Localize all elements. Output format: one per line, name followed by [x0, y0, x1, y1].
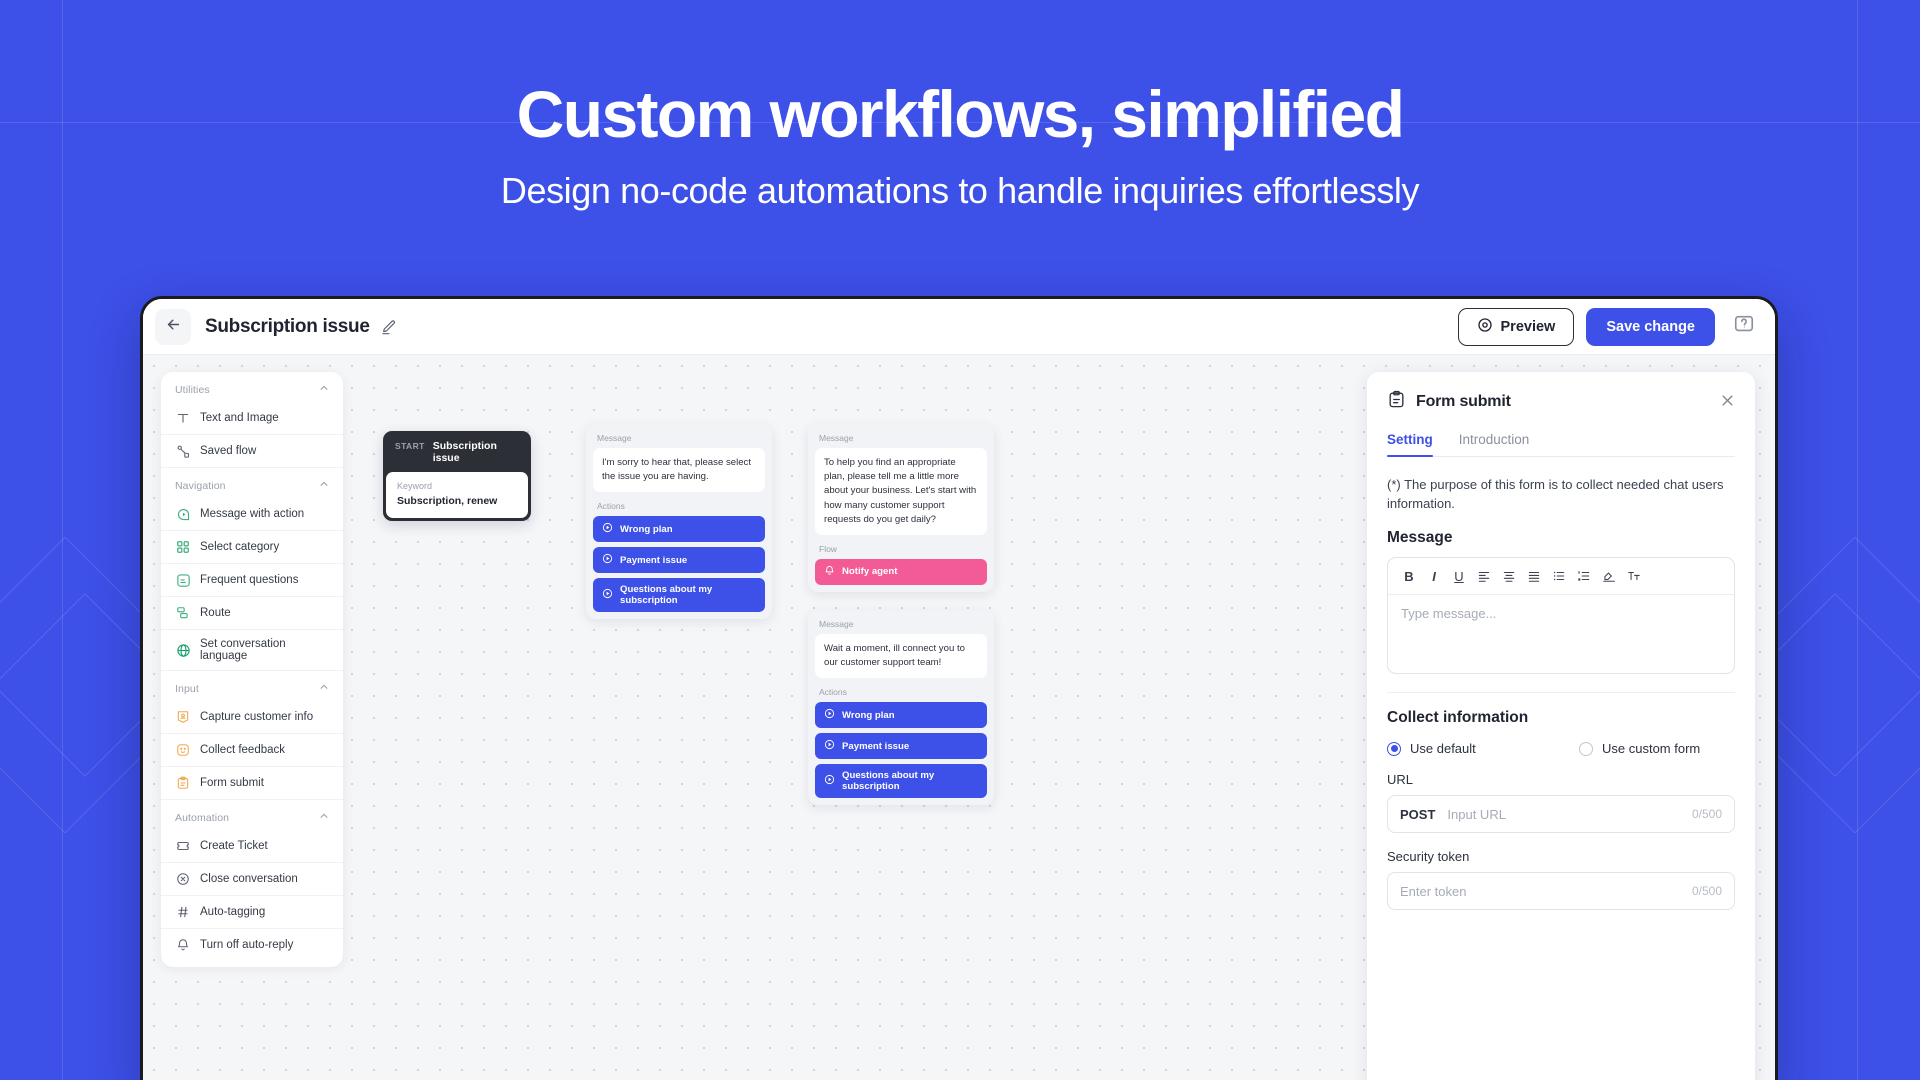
url-label: URL — [1387, 772, 1735, 787]
clipboard-icon — [175, 775, 191, 791]
bell-off-icon — [175, 937, 191, 953]
start-node-body: Keyword Subscription, renew — [386, 472, 528, 518]
user-card-icon — [175, 709, 191, 725]
actions-label: Actions — [593, 492, 765, 516]
palette-item-set-conversation-language[interactable]: Set conversation language — [161, 630, 343, 671]
palette-item-frequent-questions[interactable]: Frequent questions — [161, 564, 343, 597]
start-node[interactable]: START Subscription issue Keyword Subscri… — [383, 431, 531, 521]
message-node-2[interactable]: Message To help you find an appropriate … — [808, 424, 994, 592]
action-button[interactable]: Questions about my subscription — [593, 578, 765, 612]
palette-item-label: Route — [200, 607, 231, 619]
text-icon — [175, 410, 191, 426]
radio-label: Use custom form — [1602, 741, 1700, 756]
action-button[interactable]: Payment issue — [593, 547, 765, 573]
security-token-input[interactable]: Enter token 0/500 — [1387, 872, 1735, 910]
app-body: Utilities Text and Image Saved flow Nav — [143, 355, 1775, 1080]
page-title: Custom workflows, simplified — [0, 78, 1920, 152]
action-button-label: Payment issue — [620, 555, 687, 566]
palette-item-capture-customer-info[interactable]: Capture customer info — [161, 701, 343, 734]
palette-group-label: Automation — [175, 812, 229, 824]
message-text: To help you find an appropriate plan, pl… — [815, 448, 987, 535]
panel-note: (*) The purpose of this form is to colle… — [1387, 475, 1735, 513]
palette-item-label: Text and Image — [200, 412, 279, 424]
grid-icon — [175, 539, 191, 555]
palette-item-label: Auto-tagging — [200, 906, 265, 918]
align-center-icon[interactable] — [1498, 565, 1520, 587]
tab-setting[interactable]: Setting — [1387, 432, 1433, 456]
faq-icon — [175, 572, 191, 588]
page-subtitle: Design no-code automations to handle inq… — [0, 170, 1920, 212]
action-button-label: Wrong plan — [620, 524, 673, 535]
chevron-up-icon — [319, 811, 329, 824]
palette-group-label: Input — [175, 683, 199, 695]
italic-icon[interactable]: I — [1423, 565, 1445, 587]
message-section-title: Message — [1387, 529, 1735, 547]
token-placeholder: Enter token — [1400, 884, 1467, 899]
palette-item-turn-off-auto-reply[interactable]: Turn off auto-reply — [161, 929, 343, 961]
flow-button-label: Notify agent — [842, 566, 897, 577]
radio-use-default[interactable]: Use default — [1387, 741, 1579, 756]
start-node-header: START Subscription issue — [383, 431, 531, 472]
play-circle-icon — [602, 553, 613, 567]
hash-icon — [175, 904, 191, 920]
route-icon — [175, 605, 191, 621]
clipboard-icon — [1387, 390, 1406, 414]
message-label: Message — [593, 431, 765, 448]
eye-icon — [1477, 317, 1493, 337]
palette-item-auto-tagging[interactable]: Auto-tagging — [161, 896, 343, 929]
palette-group-input[interactable]: Input — [161, 671, 343, 701]
palette-item-route[interactable]: Route — [161, 597, 343, 630]
action-button-label: Wrong plan — [842, 710, 895, 721]
pencil-icon[interactable] — [381, 319, 397, 335]
app-topbar: Subscription issue Preview Save change — [143, 299, 1775, 355]
underline-icon[interactable]: U — [1448, 565, 1470, 587]
action-button-label: Questions about my subscription — [842, 770, 978, 792]
radio-indicator — [1387, 742, 1401, 756]
play-circle-icon — [602, 588, 613, 602]
preview-button-label: Preview — [1501, 319, 1556, 335]
help-button[interactable] — [1731, 314, 1757, 340]
security-token-label: Security token — [1387, 849, 1735, 864]
question-mark-icon — [1733, 313, 1755, 340]
palette-item-label: Form submit — [200, 777, 264, 789]
action-button[interactable]: Wrong plan — [593, 516, 765, 542]
action-button-label: Questions about my subscription — [620, 584, 756, 606]
url-input[interactable]: POST Input URL 0/500 — [1387, 795, 1735, 833]
save-change-label: Save change — [1606, 319, 1695, 335]
flow-label: Flow — [815, 535, 987, 559]
message-label: Message — [815, 431, 987, 448]
app-window: Subscription issue Preview Save change — [140, 296, 1778, 1080]
palette-item-label: Saved flow — [200, 445, 256, 457]
radio-use-custom-form[interactable]: Use custom form — [1579, 741, 1700, 756]
palette-item-label: Message with action — [200, 508, 304, 520]
keyword-value: Subscription, renew — [397, 495, 517, 507]
chevron-up-icon — [319, 682, 329, 695]
bell-icon — [824, 565, 835, 579]
start-node-title: Subscription issue — [433, 440, 519, 464]
message-node-1[interactable]: Message I'm sorry to hear that, please s… — [586, 424, 772, 619]
palette-item-label: Capture customer info — [200, 711, 313, 723]
palette-group-navigation[interactable]: Navigation — [161, 468, 343, 498]
message-editor: B I U — [1387, 557, 1735, 674]
play-circle-icon — [824, 708, 835, 722]
token-counter: 0/500 — [1692, 884, 1722, 898]
action-button[interactable]: Wrong plan — [815, 702, 987, 728]
close-circle-icon — [175, 871, 191, 887]
numbered-list-icon[interactable] — [1573, 565, 1595, 587]
node-palette: Utilities Text and Image Saved flow Nav — [161, 372, 343, 967]
palette-group-automation[interactable]: Automation — [161, 800, 343, 830]
collect-mode-radio-group: Use default Use custom form — [1387, 741, 1735, 756]
action-button-label: Payment issue — [842, 741, 909, 752]
message-text: I'm sorry to hear that, please select th… — [593, 448, 765, 492]
palette-item-label: Create Ticket — [200, 840, 268, 852]
palette-item-create-ticket[interactable]: Create Ticket — [161, 830, 343, 863]
palette-item-label: Close conversation — [200, 873, 298, 885]
editor-toolbar: B I U — [1388, 558, 1734, 595]
hero-section: Custom workflows, simplified Design no-c… — [0, 0, 1920, 212]
globe-icon — [175, 642, 191, 658]
message-label: Message — [815, 617, 987, 634]
flow-button-notify-agent[interactable]: Notify agent — [815, 559, 987, 585]
palette-item-text-and-image[interactable]: Text and Image — [161, 402, 343, 435]
tab-introduction[interactable]: Introduction — [1459, 432, 1530, 456]
palette-group-utilities[interactable]: Utilities — [161, 372, 343, 402]
form-submit-panel: Form submit Setting Introduction (*) The… — [1367, 372, 1755, 1080]
save-change-button[interactable]: Save change — [1586, 308, 1715, 346]
saved-flow-icon — [175, 443, 191, 459]
palette-group-label: Utilities — [175, 384, 210, 396]
panel-tabs: Setting Introduction — [1387, 432, 1735, 457]
actions-label: Actions — [815, 678, 987, 702]
palette-item-close-conversation[interactable]: Close conversation — [161, 863, 343, 896]
play-circle-icon — [602, 522, 613, 536]
palette-item-label: Collect feedback — [200, 744, 285, 756]
chevron-up-icon — [319, 479, 329, 492]
palette-item-label: Turn off auto-reply — [200, 939, 293, 951]
palette-item-saved-flow[interactable]: Saved flow — [161, 435, 343, 468]
topbar-actions: Preview Save change — [1458, 308, 1758, 346]
message-text: Wait a moment, ill connect you to our cu… — [815, 634, 987, 678]
flow-title: Subscription issue — [205, 316, 370, 338]
palette-group-label: Navigation — [175, 480, 226, 492]
palette-item-label: Set conversation language — [200, 638, 329, 662]
message-node-3[interactable]: Message Wait a moment, ill connect you t… — [808, 610, 994, 805]
action-button[interactable]: Payment issue — [815, 733, 987, 759]
start-badge: START — [395, 441, 425, 451]
smiley-icon — [175, 742, 191, 758]
url-counter: 0/500 — [1692, 807, 1722, 821]
highlight-icon[interactable] — [1598, 565, 1620, 587]
preview-button[interactable]: Preview — [1458, 308, 1575, 346]
radio-indicator — [1579, 742, 1593, 756]
palette-item-label: Frequent questions — [200, 574, 298, 586]
align-justify-icon[interactable] — [1523, 565, 1545, 587]
panel-divider — [1387, 692, 1735, 693]
panel-header: Form submit — [1387, 390, 1735, 414]
message-action-icon — [175, 506, 191, 522]
ticket-icon — [175, 838, 191, 854]
keyword-label: Keyword — [397, 481, 517, 491]
align-left-icon[interactable] — [1473, 565, 1495, 587]
bullet-list-icon[interactable] — [1548, 565, 1570, 587]
play-circle-icon — [824, 774, 835, 788]
play-circle-icon — [824, 739, 835, 753]
palette-item-select-category[interactable]: Select category — [161, 531, 343, 564]
collect-information-title: Collect information — [1387, 709, 1735, 727]
back-button[interactable] — [155, 309, 191, 345]
url-method-badge: POST — [1400, 807, 1435, 822]
panel-title: Form submit — [1416, 393, 1511, 411]
url-placeholder: Input URL — [1447, 807, 1506, 822]
palette-item-form-submit[interactable]: Form submit — [161, 767, 343, 800]
message-input[interactable]: Type message... — [1388, 595, 1734, 673]
close-icon[interactable] — [1720, 393, 1735, 411]
palette-item-collect-feedback[interactable]: Collect feedback — [161, 734, 343, 767]
arrow-left-icon — [165, 316, 182, 338]
action-button[interactable]: Questions about my subscription — [815, 764, 987, 798]
bold-icon[interactable]: B — [1398, 565, 1420, 587]
chevron-up-icon — [319, 383, 329, 396]
text-size-icon[interactable] — [1623, 565, 1645, 587]
palette-item-label: Select category — [200, 541, 279, 553]
radio-label: Use default — [1410, 741, 1476, 756]
palette-item-message-with-action[interactable]: Message with action — [161, 498, 343, 531]
